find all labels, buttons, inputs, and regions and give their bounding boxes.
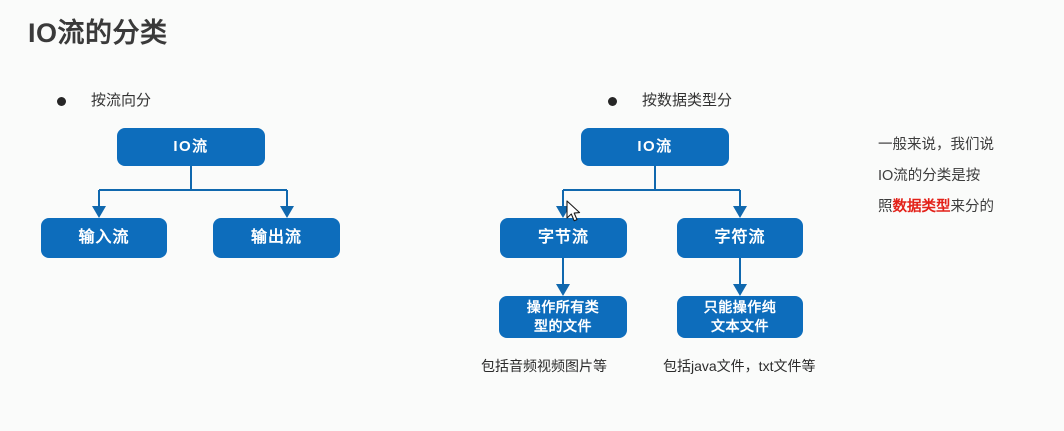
- bullet-dot-icon: [57, 97, 66, 106]
- side-note-highlight: 数据类型: [893, 199, 951, 215]
- bullet-item-data-type: 按数据类型分: [608, 91, 732, 111]
- side-note-line-3-prefix: 照: [878, 199, 893, 215]
- node-byte-stream[interactable]: 字节流: [500, 218, 627, 258]
- node-detail-line-1: 只能操作纯: [704, 298, 777, 317]
- side-note-line-2: IO流的分类是按: [878, 161, 1058, 192]
- node-char-stream-detail[interactable]: 只能操作纯 文本文件: [677, 296, 803, 338]
- page-title: IO流的分类: [28, 16, 168, 50]
- bullet-item-flow-direction: 按流向分: [57, 91, 151, 111]
- bullet-item-label: 按数据类型分: [642, 91, 732, 111]
- node-right-root-io-stream[interactable]: IO流: [581, 128, 729, 166]
- node-detail-line-1: 操作所有类: [527, 298, 600, 317]
- mouse-pointer-icon: [566, 200, 582, 224]
- side-note: 一般来说，我们说 IO流的分类是按 照数据类型来分的: [878, 130, 1058, 223]
- caption-char-stream: 包括java文件，txt文件等: [663, 357, 815, 375]
- slide-canvas: IO流的分类 按流向分 按数据类型分 IO流 输入流 输出流 I: [0, 0, 1064, 431]
- side-note-line-3: 照数据类型来分的: [878, 192, 1058, 223]
- bullet-dot-icon: [608, 97, 617, 106]
- node-detail-line-2: 文本文件: [704, 317, 777, 336]
- side-note-line-3-suffix: 来分的: [951, 199, 995, 215]
- node-detail-line-2: 型的文件: [527, 317, 600, 336]
- bullet-item-label: 按流向分: [91, 91, 151, 111]
- node-input-stream[interactable]: 输入流: [41, 218, 167, 258]
- node-output-stream[interactable]: 输出流: [213, 218, 340, 258]
- node-char-stream[interactable]: 字符流: [677, 218, 803, 258]
- caption-byte-stream: 包括音频视频图片等: [481, 357, 607, 375]
- node-byte-stream-detail[interactable]: 操作所有类 型的文件: [499, 296, 627, 338]
- node-left-root-io-stream[interactable]: IO流: [117, 128, 265, 166]
- side-note-line-1: 一般来说，我们说: [878, 130, 1058, 161]
